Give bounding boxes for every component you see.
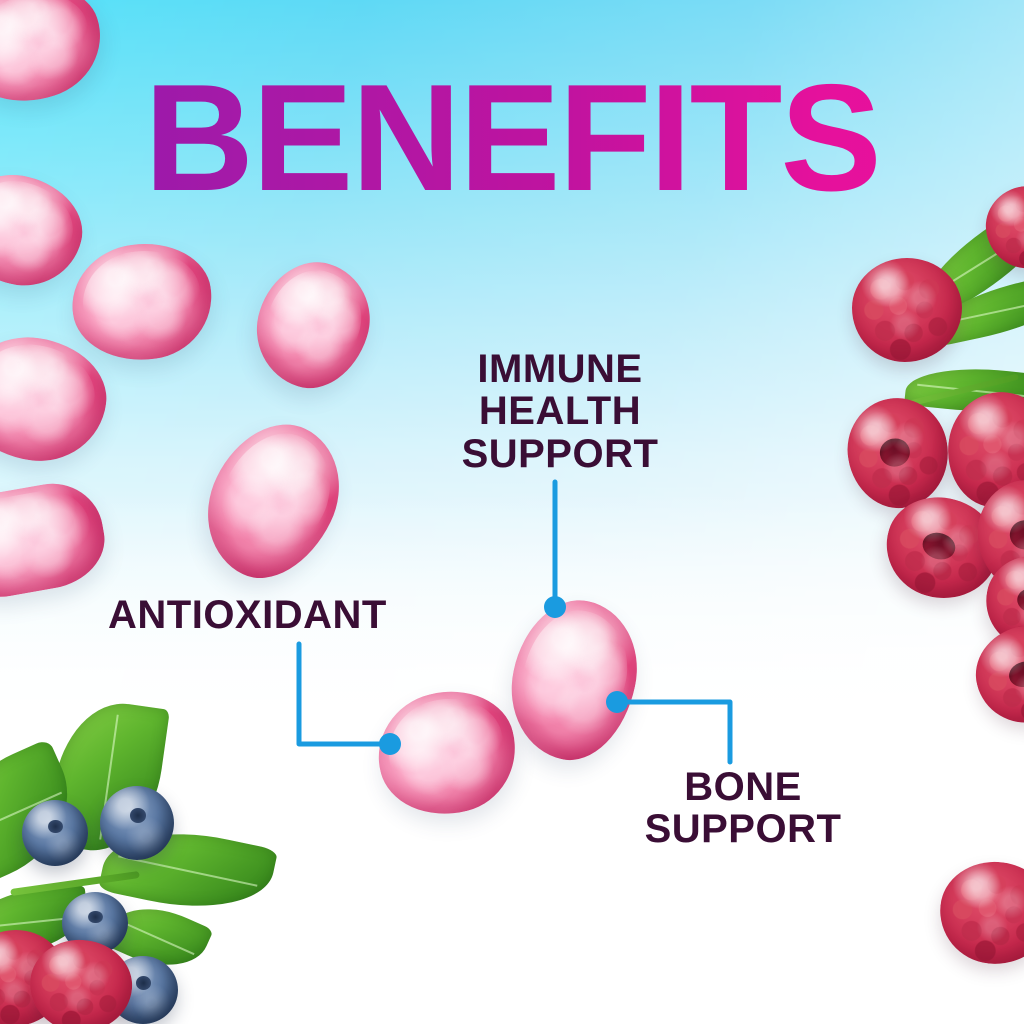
blueberry-crown: [136, 976, 151, 990]
callout-label-immune: IMMUNE HEALTH SUPPORT: [400, 348, 720, 475]
blueberry-crown: [88, 911, 103, 923]
callout-label-bone: BONE SUPPORT: [578, 766, 908, 851]
blueberry-crown: [130, 808, 146, 823]
leaf-vein: [120, 921, 194, 956]
leaf-vein: [119, 855, 257, 886]
blueberry-crown: [48, 820, 63, 833]
callout-label-antioxidant: ANTIOXIDANT: [108, 594, 448, 636]
blueberry: [100, 786, 174, 860]
blueberry: [22, 800, 88, 866]
page-title: BENEFITS: [0, 62, 1024, 214]
benefits-infographic: BENEFITS IMMUNE HEALTH SUPPORT ANTIOXIDA…: [0, 0, 1024, 1024]
